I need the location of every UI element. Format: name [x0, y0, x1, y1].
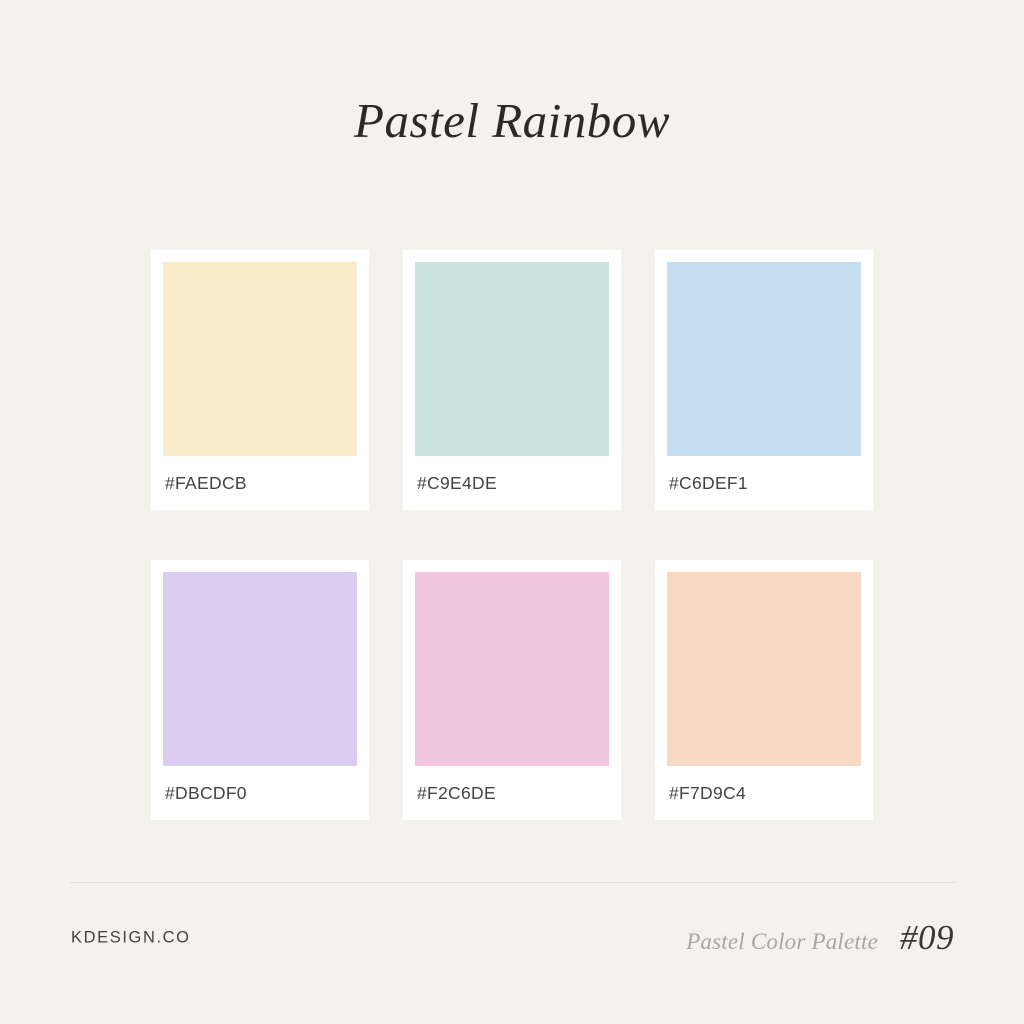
color-chip [415, 262, 609, 456]
brand-name: KDESIGN.CO [71, 929, 191, 948]
swatch-card[interactable]: #DBCDF0 [151, 560, 369, 820]
swatch-grid: #FAEDCB #C9E4DE #C6DEF1 #DBCDF0 #F2C6DE … [151, 250, 873, 820]
color-chip [163, 572, 357, 766]
color-chip [667, 262, 861, 456]
color-hex-label: #DBCDF0 [163, 766, 357, 820]
swatch-card[interactable]: #FAEDCB [151, 250, 369, 510]
swatch-card[interactable]: #F7D9C4 [655, 560, 873, 820]
color-chip [415, 572, 609, 766]
swatch-card[interactable]: #F2C6DE [403, 560, 621, 820]
page-title: Pastel Rainbow [0, 92, 1024, 149]
color-hex-label: #F7D9C4 [667, 766, 861, 820]
color-hex-label: #FAEDCB [163, 456, 357, 510]
swatch-card[interactable]: #C6DEF1 [655, 250, 873, 510]
color-hex-label: #C6DEF1 [667, 456, 861, 510]
palette-number: #09 [900, 918, 954, 958]
color-hex-label: #C9E4DE [415, 456, 609, 510]
footer-caption: Pastel Color Palette [686, 929, 878, 955]
color-hex-label: #F2C6DE [415, 766, 609, 820]
swatch-card[interactable]: #C9E4DE [403, 250, 621, 510]
palette-poster: Pastel Rainbow #FAEDCB #C9E4DE #C6DEF1 #… [0, 0, 1024, 1024]
footer-divider [70, 882, 956, 883]
color-chip [667, 572, 861, 766]
color-chip [163, 262, 357, 456]
footer-meta: Pastel Color Palette #09 [686, 918, 954, 958]
